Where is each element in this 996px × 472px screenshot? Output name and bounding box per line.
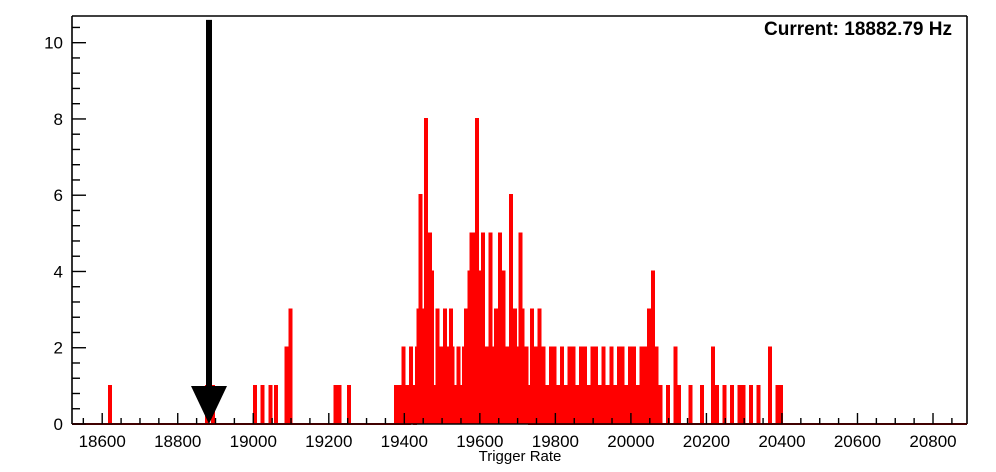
y-tick-label: 10 [44, 34, 63, 53]
y-tick-label: 2 [54, 339, 63, 358]
x-tick-label: 19000 [230, 432, 277, 451]
y-tick-label: 6 [54, 186, 63, 205]
x-tick-label: 20400 [758, 432, 805, 451]
x-tick-label: 18800 [154, 432, 201, 451]
x-tick-label: 20200 [683, 432, 730, 451]
x-tick-label: 19400 [381, 432, 428, 451]
x-tick-label: 20000 [607, 432, 654, 451]
x-tick-label: 19200 [305, 432, 352, 451]
trigger-rate-histogram: 1860018800190001920019400196001980020000… [0, 0, 996, 472]
y-tick-label: 4 [54, 262, 63, 281]
y-tick-label: 8 [54, 110, 63, 129]
x-tick-label: 18600 [79, 432, 126, 451]
x-tick-label: 20600 [834, 432, 881, 451]
x-tick-label: 20800 [909, 432, 956, 451]
page-title: Current: 18882.79 Hz [764, 19, 952, 40]
x-axis-title: Trigger Rate [479, 448, 562, 465]
y-tick-label: 0 [54, 415, 63, 434]
histogram-canvas: 1860018800190001920019400196001980020000… [0, 0, 996, 472]
